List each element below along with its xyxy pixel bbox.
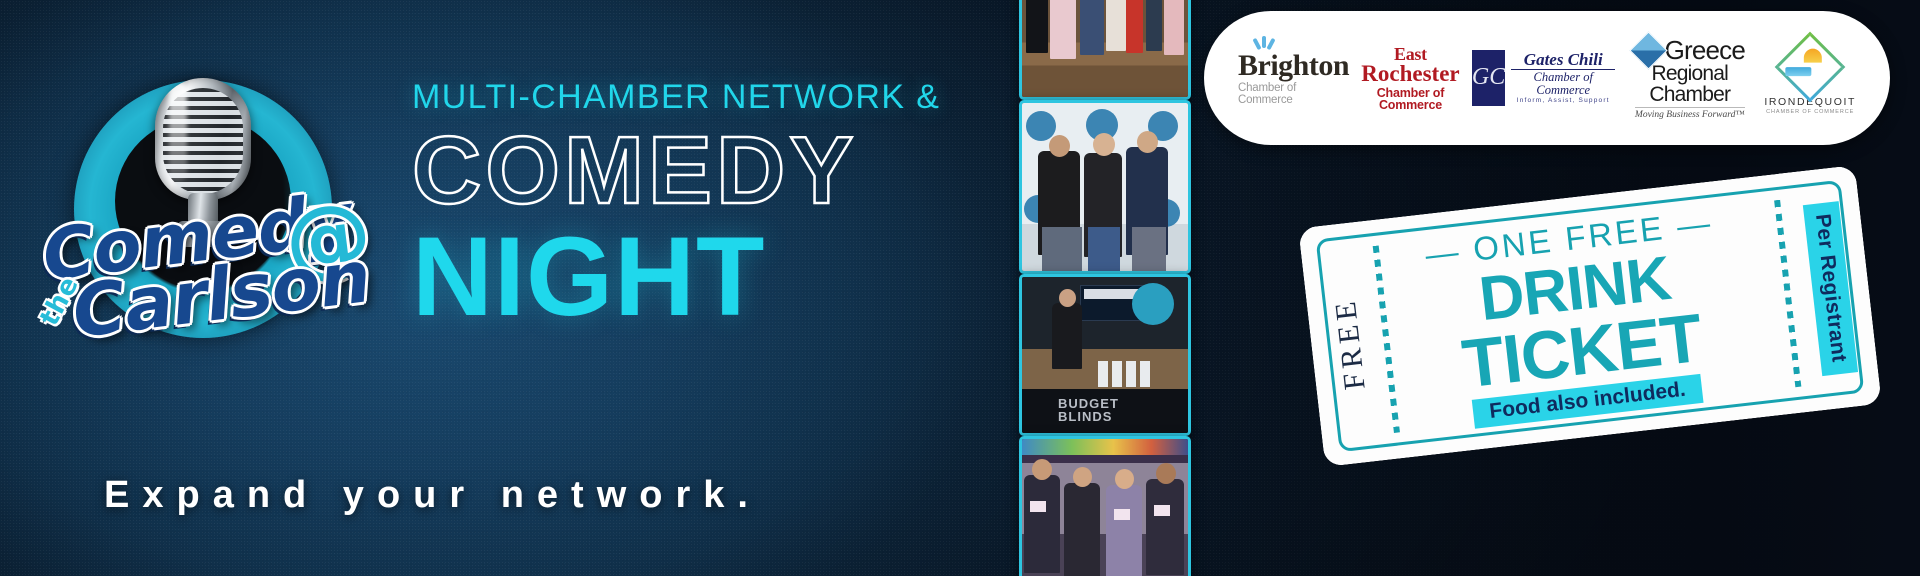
brighton-subtitle: Chamber of Commerce <box>1238 82 1349 106</box>
irondequoit-line2: CHAMBER OF COMMERCE <box>1766 109 1854 115</box>
budget-blinds-table-photo: BUDGETBLINDS <box>1019 274 1191 436</box>
gates-chili-monogram: GC <box>1472 50 1505 106</box>
water-icon <box>1785 67 1811 76</box>
microphone-head <box>155 78 251 200</box>
greece-line2: Regional Chamber <box>1615 63 1764 105</box>
brighton-name: Brighton <box>1238 49 1349 82</box>
sponsor-logo-brighton: Brighton Chamber of Commerce <box>1238 51 1349 106</box>
free-drink-ticket: FREE — ONE FREE — DRINK TICKET Food also… <box>1298 165 1882 467</box>
headline-comedy: COMEDY <box>412 123 992 219</box>
gates-chili-line1: Gates Chili <box>1511 51 1615 69</box>
greece-tagline: Moving Business Forward™ <box>1635 107 1745 120</box>
event-photo-strip: Stro <box>1019 0 1185 576</box>
gates-chili-tagline: Inform, Assist, Support <box>1511 98 1615 105</box>
east-rochester-line2: Rochester <box>1361 62 1459 85</box>
headline-kicker: MULTI-CHAMBER NETWORK & <box>412 78 992 117</box>
three-attendees-backdrop-photo <box>1019 100 1191 274</box>
irondequoit-diamond-icon <box>1775 31 1846 102</box>
headline-night: NIGHT <box>412 221 992 333</box>
east-rochester-line1: East <box>1394 45 1427 63</box>
comedy-at-the-carlson-logo: Comedy @ the Carlson <box>20 72 400 362</box>
networking-crowd-photo: Stro <box>1019 0 1191 100</box>
sponsor-logo-greece-regional: Greece Regional Chamber Moving Business … <box>1615 37 1764 120</box>
sponsor-logo-east-rochester: East Rochester Chamber of Commerce <box>1349 45 1472 112</box>
headline-block: MULTI-CHAMBER NETWORK & COMEDY NIGHT <box>412 78 992 333</box>
east-rochester-line3: Chamber of Commerce <box>1349 87 1472 112</box>
sponsor-logo-irondequoit: IRONDEQUOIT CHAMBER OF COMMERCE <box>1764 42 1856 115</box>
logo-wordmark: Comedy @ the Carlson <box>20 190 400 360</box>
sun-icon <box>1804 48 1822 62</box>
sponsor-logo-gates-chili: GC Gates Chili Chamber of Commerce Infor… <box>1472 50 1615 106</box>
tagline-text: Expand your network. <box>104 474 761 517</box>
four-attendees-mural-photo <box>1019 436 1191 576</box>
brighton-sparkle-icon <box>1252 36 1278 52</box>
greece-line1: Greece <box>1665 37 1745 63</box>
comedy-night-banner: Comedy @ the Carlson MULTI-CHAMBER NETWO… <box>0 0 1920 576</box>
gates-chili-line2: Chamber of Commerce <box>1511 69 1615 97</box>
chamber-sponsor-bar: Brighton Chamber of Commerce East Roches… <box>1204 11 1890 145</box>
